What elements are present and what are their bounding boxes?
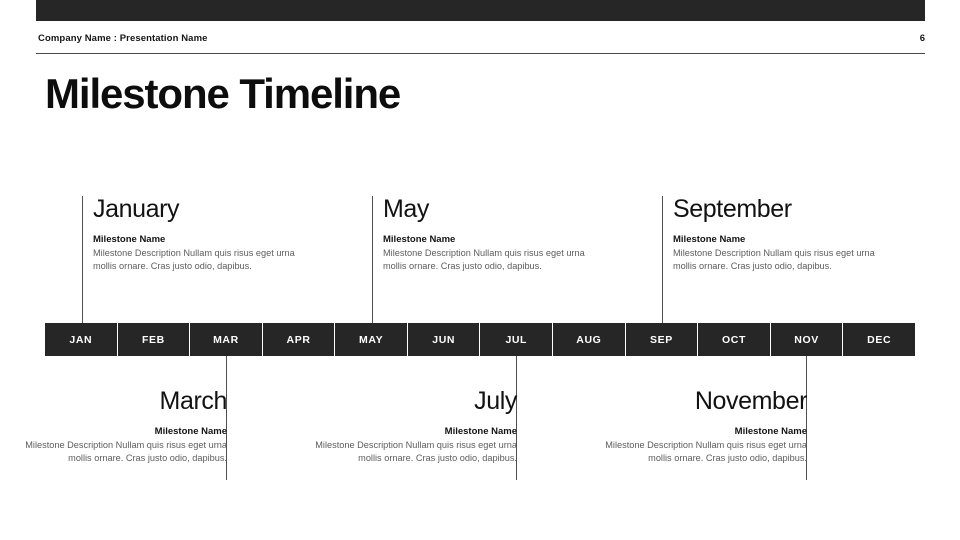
month-cell-feb[interactable]: FEB — [118, 323, 191, 356]
milestone-month-label: January — [93, 194, 313, 225]
milestone-description: Milestone Description Nullam quis risus … — [673, 247, 893, 271]
milestone-name: Milestone Name — [93, 234, 313, 247]
milestone-november[interactable]: November Milestone Name Milestone Descri… — [587, 386, 818, 464]
month-cell-dec[interactable]: DEC — [843, 323, 915, 356]
milestone-description: Milestone Description Nullam quis risus … — [383, 247, 603, 271]
month-cell-sep[interactable]: SEP — [626, 323, 699, 356]
milestone-name: Milestone Name — [7, 426, 227, 439]
milestone-january[interactable]: January Milestone Name Milestone Descrip… — [82, 194, 313, 272]
month-cell-may[interactable]: MAY — [335, 323, 408, 356]
month-cell-apr[interactable]: APR — [263, 323, 336, 356]
milestone-september[interactable]: September Milestone Name Milestone Descr… — [662, 194, 893, 272]
milestone-month-label: September — [673, 194, 893, 225]
month-bar: JAN FEB MAR APR MAY JUN JUL AUG SEP OCT … — [45, 323, 915, 356]
milestone-month-label: July — [297, 386, 517, 417]
month-cell-jul[interactable]: JUL — [480, 323, 553, 356]
milestone-description: Milestone Description Nullam quis risus … — [7, 439, 227, 463]
month-cell-mar[interactable]: MAR — [190, 323, 263, 356]
month-cell-oct[interactable]: OCT — [698, 323, 771, 356]
milestone-name: Milestone Name — [297, 426, 517, 439]
milestone-march[interactable]: March Milestone Name Milestone Descripti… — [7, 386, 238, 464]
milestone-name: Milestone Name — [673, 234, 893, 247]
milestone-month-label: March — [7, 386, 227, 417]
milestone-description: Milestone Description Nullam quis risus … — [297, 439, 517, 463]
milestone-month-label: May — [383, 194, 603, 225]
milestone-description: Milestone Description Nullam quis risus … — [587, 439, 807, 463]
month-cell-jun[interactable]: JUN — [408, 323, 481, 356]
month-cell-aug[interactable]: AUG — [553, 323, 626, 356]
milestone-july[interactable]: July Milestone Name Milestone Descriptio… — [297, 386, 528, 464]
month-cell-jan[interactable]: JAN — [45, 323, 118, 356]
milestone-description: Milestone Description Nullam quis risus … — [93, 247, 313, 271]
milestone-may[interactable]: May Milestone Name Milestone Description… — [372, 194, 603, 272]
milestone-month-label: November — [587, 386, 807, 417]
milestone-name: Milestone Name — [587, 426, 807, 439]
month-cell-nov[interactable]: NOV — [771, 323, 844, 356]
milestone-timeline: JAN FEB MAR APR MAY JUN JUL AUG SEP OCT … — [0, 0, 960, 540]
milestone-name: Milestone Name — [383, 234, 603, 247]
